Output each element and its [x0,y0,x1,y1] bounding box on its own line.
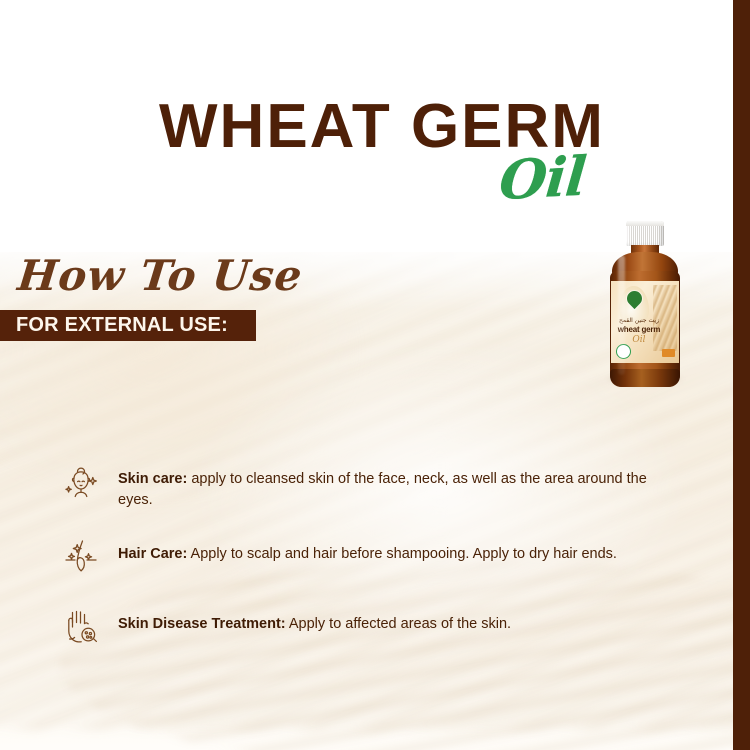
title-block: WHEAT GERM Oil [0,96,750,158]
hair-follicle-icon [58,535,104,581]
title-script-oil: Oil [497,144,588,212]
face-sparkle-icon [58,460,104,506]
list-item: Hair Care: Apply to scalp and hair befor… [58,535,678,581]
howto-heading: How To Use [15,251,305,300]
external-use-label: FOR EXTERNAL USE: [16,314,228,337]
list-item-text: Hair Care: Apply to scalp and hair befor… [118,535,678,565]
product-bottle: زيت جنين القمح wheat germ Oil [604,221,686,391]
page-title: WHEAT GERM [0,96,750,158]
list-item: Skin Disease Treatment: Apply to affecte… [58,605,678,651]
usage-list: Skin care: apply to cleansed skin of the… [58,460,678,675]
label-script-oil: Oil [625,335,653,345]
external-use-bar: FOR EXTERNAL USE: [0,310,256,341]
list-item: Skin care: apply to cleansed skin of the… [58,460,678,511]
list-item-body: Apply to affected areas of the skin. [286,616,511,632]
bottle-cap-top [626,221,664,226]
list-item-body: apply to cleansed skin of the face, neck… [118,471,647,508]
list-item-lead: Skin Disease Treatment: [118,616,286,632]
bottle-highlight [618,255,625,375]
list-item-body: Apply to scalp and hair before shampooin… [187,546,617,562]
right-edge-stripe [733,0,750,750]
list-item-lead: Skin care: [118,471,187,487]
list-item-lead: Hair Care: [118,546,187,562]
poster-root: WHEAT GERM Oil How To Use FOR EXTERNAL U… [0,0,750,750]
list-item-text: Skin Disease Treatment: Apply to affecte… [118,605,678,635]
label-badge-orange-icon [662,349,675,357]
hand-skin-icon [58,605,104,651]
list-item-text: Skin care: apply to cleansed skin of the… [118,460,678,511]
